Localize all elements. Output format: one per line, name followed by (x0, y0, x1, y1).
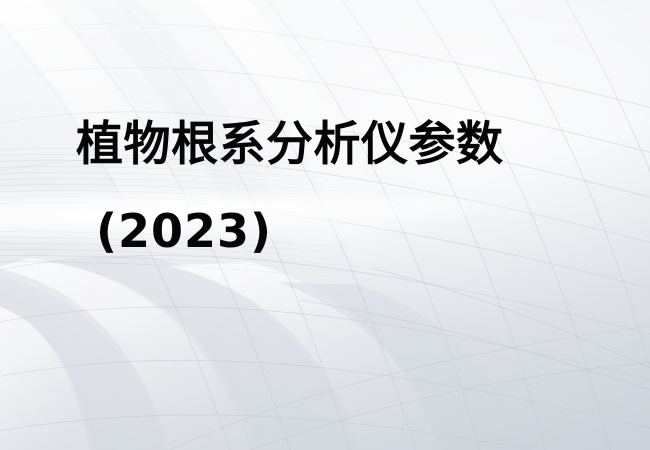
slide-subtitle-year: (2023) (96, 208, 272, 254)
slide-title: 植物根系分析仪参数 (76, 121, 504, 168)
slide-text-block: 植物根系分析仪参数 (2023) (0, 0, 650, 450)
title-slide: 植物根系分析仪参数 (2023) (0, 0, 650, 450)
